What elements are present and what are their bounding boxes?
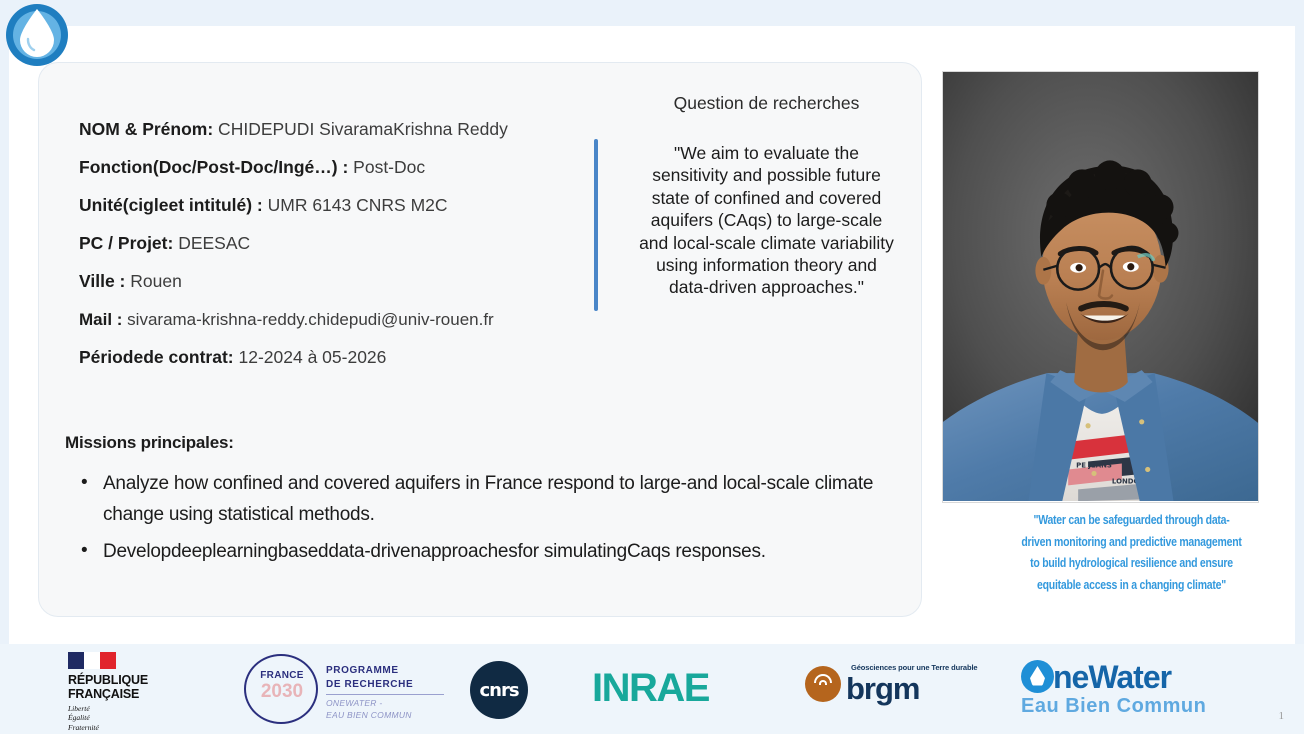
portrait-image: PE JEANS LONDON (943, 72, 1258, 501)
identity-value: Rouen (125, 271, 181, 291)
france-2030-year: 2030 (248, 681, 316, 703)
inrae-logo: INRAE (592, 668, 709, 708)
identity-row-mail: Mail : sivarama-krishna-reddy.chidepudi@… (79, 311, 619, 328)
republique-line1: RÉPUBLIQUE (68, 673, 208, 687)
water-droplet-icon (4, 2, 70, 68)
onewater-subtitle: Eau Bien Commun (1021, 695, 1251, 718)
programme-line2: DE RECHERCHE (326, 678, 413, 692)
identity-label: Unité(cigleet intitulé) : (79, 195, 263, 215)
identity-value: Post-Doc (348, 157, 425, 177)
identity-value: DEESAC (173, 233, 250, 253)
brgm-logo: Géosciences pour une Terre durable brgm (805, 658, 985, 720)
list-item: •Analyze how confined and covered aquife… (65, 469, 905, 531)
identity-row-periode: Périodede contrat: 12-2024 à 05-2026 (79, 349, 619, 367)
republique-motto: Liberté Égalité Fraternité (68, 704, 208, 732)
slide-root: NOM & Prénom: CHIDEPUDI SivaramaKrishna … (0, 0, 1304, 734)
onewater-wordmark: neWater (1021, 660, 1251, 693)
info-card: NOM & Prénom: CHIDEPUDI SivaramaKrishna … (38, 62, 922, 617)
missions-list: •Analyze how confined and covered aquife… (65, 469, 905, 567)
left-band (0, 0, 9, 734)
identity-row-ville: Ville : Rouen (79, 273, 619, 291)
identity-row-fonction: Fonction(Doc/Post-Doc/Ingé…) : Post-Doc (79, 159, 619, 177)
programme-subtitle: ONEWATER - EAU BIEN COMMUN (326, 698, 412, 722)
identity-row-unite: Unité(cigleet intitulé) : UMR 6143 CNRS … (79, 197, 619, 215)
cnrs-logo: cnrs (470, 661, 528, 719)
missions-block: Missions principales: •Analyze how confi… (65, 433, 905, 573)
bullet-icon: • (81, 468, 87, 499)
programme-sub1: ONEWATER - (326, 698, 412, 710)
french-flag-icon (68, 652, 116, 669)
onewater-logo: neWater Eau Bien Commun (1021, 660, 1251, 718)
republique-line2: FRANÇAISE (68, 687, 208, 701)
mission-text: Analyze how confined and covered aquifer… (103, 473, 873, 525)
footer-logos: RÉPUBLIQUE FRANÇAISE Liberté Égalité Fra… (0, 644, 1304, 734)
top-band (0, 0, 1304, 26)
onewater-droplet-icon (1021, 660, 1054, 693)
onewater-label: neWater (1053, 661, 1171, 693)
identity-value: 12-2024 à 05-2026 (234, 347, 387, 367)
cnrs-label: cnrs (479, 680, 518, 701)
brgm-arc-inner-icon (819, 680, 827, 685)
republique-name: RÉPUBLIQUE FRANÇAISE (68, 673, 208, 701)
identity-block: NOM & Prénom: CHIDEPUDI SivaramaKrishna … (79, 121, 619, 387)
research-question-block: Question de recherches "We aim to evalua… (639, 93, 894, 299)
programme-sub2: EAU BIEN COMMUN (326, 710, 412, 722)
cnrs-disc-icon: cnrs (470, 661, 528, 719)
programme-divider (326, 694, 444, 695)
bullet-icon: • (81, 536, 87, 567)
portrait-photo: PE JEANS LONDON (942, 71, 1259, 503)
france-2030-logo: FRANCE 2030 PROGRAMME DE RECHERCHE ONEWA… (244, 650, 484, 726)
portrait-quote: "Water can be safeguarded through data-d… (1021, 510, 1242, 597)
identity-value: CHIDEPUDI SivaramaKrishna Reddy (213, 119, 508, 139)
identity-label: Périodede contrat: (79, 347, 234, 367)
identity-value: UMR 6143 CNRS M2C (263, 195, 448, 215)
vertical-divider (594, 139, 598, 311)
identity-label: PC / Projet: (79, 233, 173, 253)
identity-row-projet: PC / Projet: DEESAC (79, 235, 619, 253)
motto-egalite: Égalité (68, 713, 208, 722)
france-2030-word: FRANCE (251, 670, 313, 681)
right-band (1295, 0, 1304, 734)
research-question-title: Question de recherches (639, 93, 894, 114)
identity-label: Mail : (79, 310, 122, 329)
list-item: •Developdeeplearningbaseddata-drivenappr… (65, 537, 905, 568)
identity-label: NOM & Prénom: (79, 119, 213, 139)
identity-value-email: sivarama-krishna-reddy.chidepudi@univ-ro… (122, 310, 493, 329)
identity-label: Ville : (79, 271, 125, 291)
republique-francaise-logo: RÉPUBLIQUE FRANÇAISE Liberté Égalité Fra… (68, 652, 208, 732)
identity-label: Fonction(Doc/Post-Doc/Ingé…) : (79, 157, 348, 177)
motto-liberte: Liberté (68, 704, 208, 713)
research-question-text: "We aim to evaluate the sensitivity and … (639, 142, 894, 299)
inrae-label: INRAE (592, 668, 709, 708)
identity-row-name: NOM & Prénom: CHIDEPUDI SivaramaKrishna … (79, 121, 619, 139)
page-number: 1 (1279, 710, 1285, 722)
svg-text:PE JEANS: PE JEANS (1076, 461, 1112, 469)
brgm-label: brgm (846, 670, 920, 707)
programme-line1: PROGRAMME (326, 664, 413, 678)
programme-title: PROGRAMME DE RECHERCHE (326, 664, 413, 691)
motto-fraternite: Fraternité (68, 723, 208, 732)
mission-text: Developdeeplearningbaseddata-drivenappro… (103, 541, 766, 562)
missions-title: Missions principales: (65, 433, 905, 453)
